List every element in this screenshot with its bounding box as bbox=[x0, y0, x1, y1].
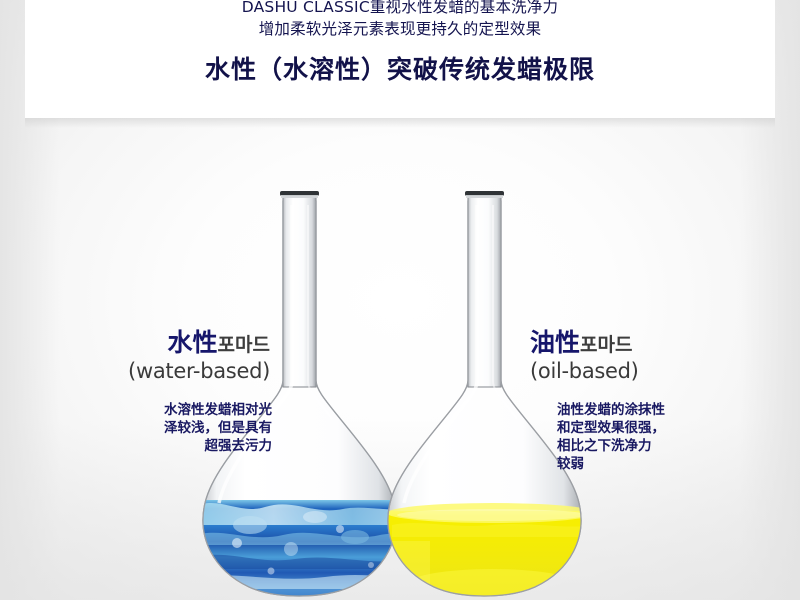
water-based-label-kr: 포마드 bbox=[218, 334, 270, 356]
headline-main: 水性（水溶性）突破传统发蜡极限 bbox=[0, 50, 800, 86]
oil-based-label-en: (oil-based) bbox=[530, 359, 800, 383]
headline-subline-1: DASHU CLASSIC重视水性发蜡的基本洗净力 bbox=[0, 0, 800, 18]
water-based-label-en: (water-based) bbox=[0, 359, 270, 383]
water-based-body-text: 水溶性发蜡相对光 泽较浅，但是具有 超强去污力 bbox=[60, 401, 272, 455]
water-based-label-block: 水性포마드 (water-based) bbox=[0, 330, 270, 383]
oil-based-label-line1: 油性포마드 bbox=[530, 330, 800, 356]
flask-neck bbox=[283, 197, 316, 387]
headline-block: DASHU CLASSIC重视水性发蜡的基本洗净力 增加柔软光泽元素表现更持久的… bbox=[0, 0, 800, 86]
oil-based-flask bbox=[380, 185, 605, 600]
oil-based-label-kr: 포마드 bbox=[580, 334, 632, 356]
oil-based-body-text: 油性发蜡的涂抹性 和定型效果很强， 相比之下洗净力 较弱 bbox=[557, 401, 777, 473]
water-based-label-line1: 水性포마드 bbox=[0, 330, 270, 356]
product-comparison-page: DASHU CLASSIC重视水性发蜡的基本洗净力 增加柔软光泽元素表现更持久的… bbox=[0, 0, 800, 600]
flask-rim-highlight bbox=[281, 195, 318, 198]
flask-neck bbox=[468, 197, 501, 387]
oil-based-label-cn: 油性 bbox=[530, 328, 580, 357]
flask-rim-highlight bbox=[466, 195, 503, 198]
yellow-oil-liquid bbox=[380, 503, 605, 600]
headline-panel-shadow bbox=[25, 118, 775, 128]
headline-subline-2: 增加柔软光泽元素表现更持久的定型效果 bbox=[0, 18, 800, 40]
water-based-label-cn: 水性 bbox=[168, 328, 218, 357]
oil-based-label-block: 油性포마드 (oil-based) bbox=[530, 330, 800, 383]
